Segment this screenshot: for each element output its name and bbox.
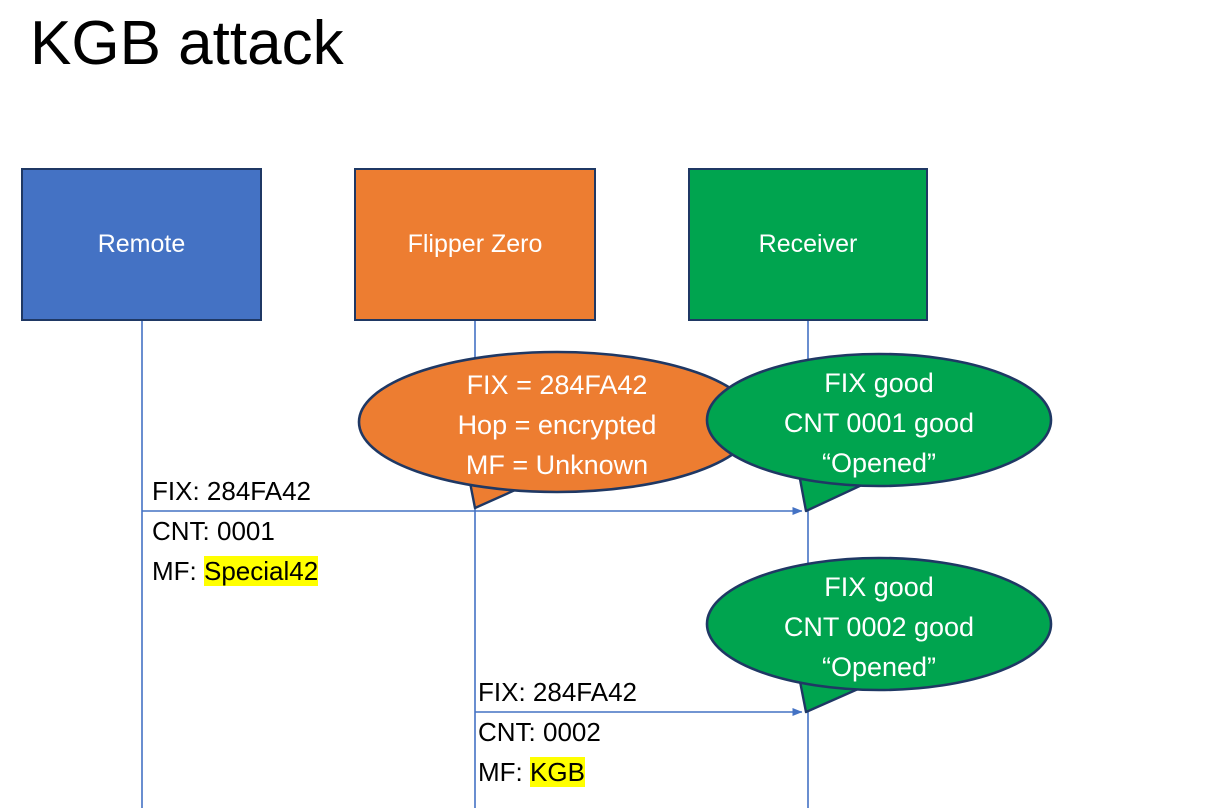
message-line-value: 284FA42: [533, 677, 637, 707]
message-line-value-highlighted: Special42: [204, 556, 318, 586]
message-label-1: FIX: 284FA42 CNT: 0001 MF: Special42: [152, 471, 318, 591]
message-line: MF: Special42: [152, 551, 318, 591]
message-line-label: MF:: [152, 556, 204, 586]
flipper-callout-shape: [359, 352, 755, 508]
message-line-label: FIX:: [152, 476, 207, 506]
message-label-2: FIX: 284FA42 CNT: 0002 MF: KGB: [478, 672, 637, 792]
message-line-value: 284FA42: [207, 476, 311, 506]
message-line: CNT: 0002: [478, 712, 637, 752]
actor-box-remote[interactable]: Remote: [21, 168, 262, 321]
slide-canvas: KGB attack: [0, 0, 1218, 808]
message-line-label: MF:: [478, 757, 530, 787]
message-line: FIX: 284FA42: [478, 672, 637, 712]
message-line-value-highlighted: KGB: [530, 757, 585, 787]
message-line-value: 0001: [217, 516, 275, 546]
message-line-label: CNT:: [152, 516, 217, 546]
message-line-label: CNT:: [478, 717, 543, 747]
message-line-label: FIX:: [478, 677, 533, 707]
actor-box-flipper[interactable]: Flipper Zero: [354, 168, 596, 321]
receiver-callout-1-shape: [707, 354, 1051, 511]
actor-label-receiver: Receiver: [759, 231, 858, 259]
actor-label-remote: Remote: [98, 231, 186, 259]
receiver-callout-2-shape: [707, 558, 1051, 712]
message-line: FIX: 284FA42: [152, 471, 318, 511]
message-line-value: 0002: [543, 717, 601, 747]
actor-label-flipper: Flipper Zero: [408, 231, 543, 259]
actor-box-receiver[interactable]: Receiver: [688, 168, 928, 321]
message-line: MF: KGB: [478, 752, 637, 792]
message-line: CNT: 0001: [152, 511, 318, 551]
